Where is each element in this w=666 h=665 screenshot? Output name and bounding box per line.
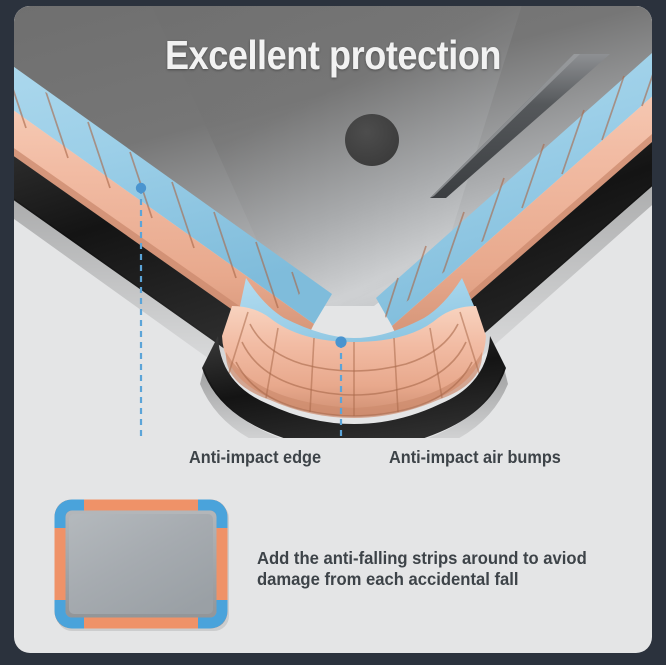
caption-line-2: damage from each accidental fall (257, 569, 599, 590)
leader-dot-bumps (335, 336, 346, 347)
callout-label-anti-impact-air-bumps: Anti-impact air bumps (389, 447, 561, 468)
tablet-with-corner-protectors (50, 494, 235, 634)
caption-line-1: Add the anti-falling strips around to av… (257, 548, 599, 569)
tablet-corner-illustration (14, 6, 652, 438)
tablet-screen (69, 514, 213, 614)
product-infographic: Excellent protection Anti-impact edge An… (0, 0, 666, 665)
callout-label-anti-impact-edge: Anti-impact edge (189, 447, 321, 468)
leader-dot-edge (136, 183, 146, 193)
bottom-section: Add the anti-falling strips around to av… (14, 476, 652, 653)
infographic-panel: Excellent protection Anti-impact edge An… (14, 6, 652, 653)
camera-lens (345, 114, 399, 166)
bottom-caption: Add the anti-falling strips around to av… (257, 548, 599, 590)
